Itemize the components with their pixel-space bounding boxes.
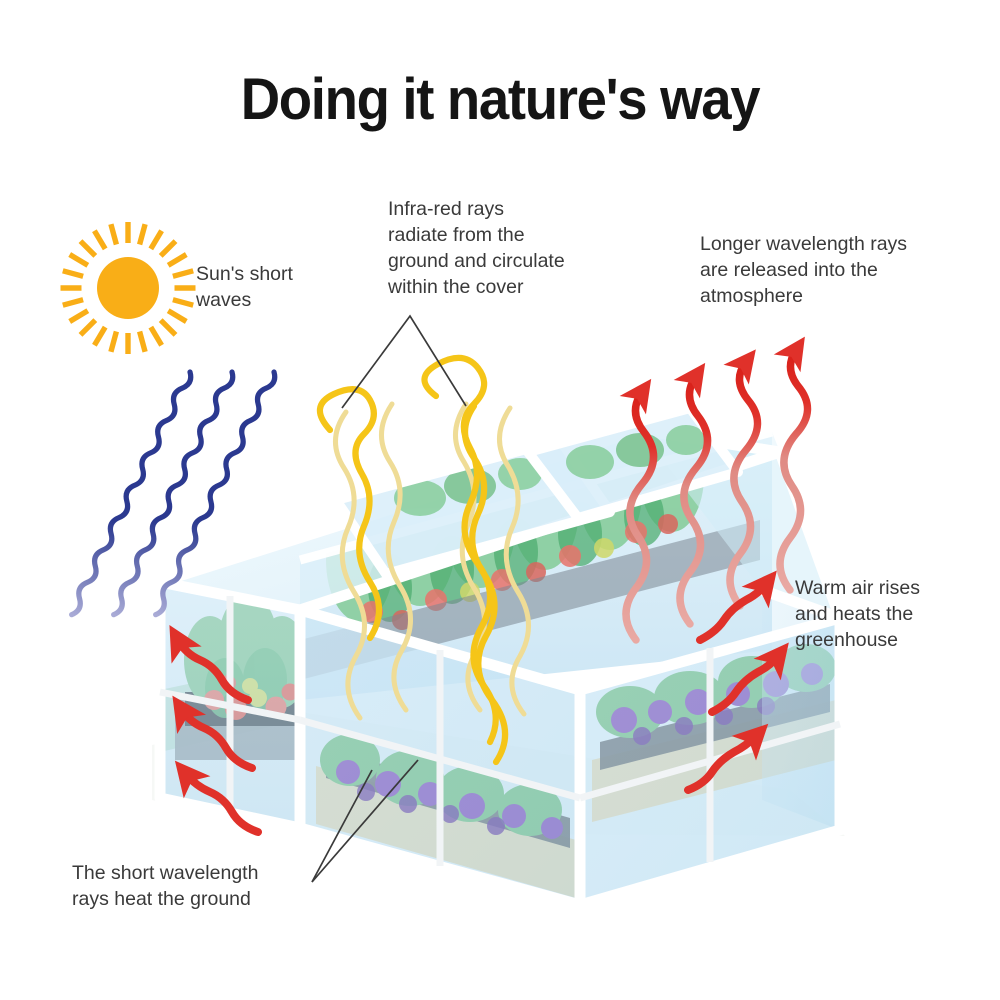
callout-infrared: Infra-red rays radiate from the ground a…	[388, 197, 565, 301]
callout-short-wavelength: The short wavelength rays heat the groun…	[72, 861, 258, 913]
callout-sun-short-waves: Sun's short waves	[196, 262, 293, 314]
infographic-canvas: Doing it nature's way	[0, 0, 1000, 1000]
callout-longer-wavelength: Longer wavelength rays are released into…	[700, 232, 907, 310]
callout-warm-air: Warm air rises and heats the greenhouse	[795, 576, 920, 654]
sun-icon	[61, 222, 196, 354]
greenhouse-diagram	[0, 0, 1000, 1000]
